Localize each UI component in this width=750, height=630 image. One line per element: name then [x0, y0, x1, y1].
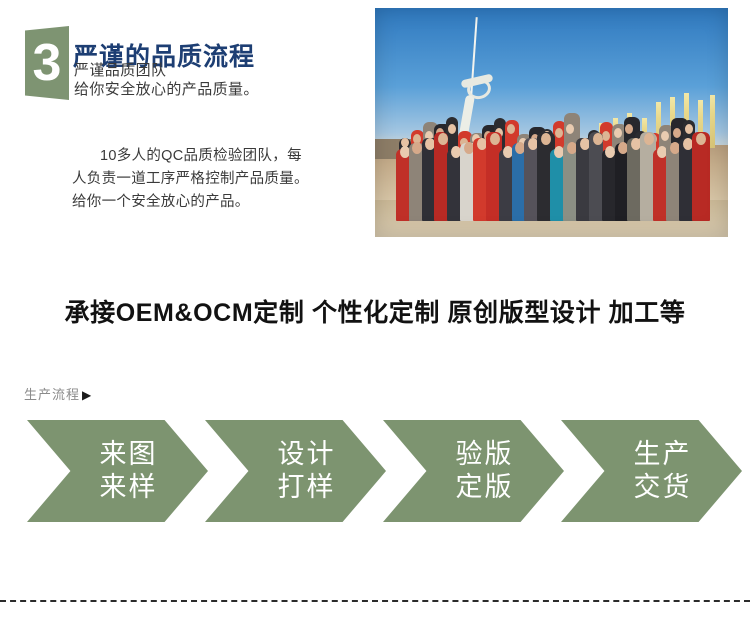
- quality-process-section: 3 严谨的品质流程 严谨品质团队 给你安全放心的产品质量。 10多人的QC品质检…: [0, 0, 750, 260]
- section-subtitle-line-2: 给你安全放心的产品质量。: [74, 80, 259, 99]
- flow-step-2-line-2: 打样: [256, 471, 336, 504]
- section-body-paragraph: 10多人的QC品质检验团队，每人负责一道工序严格控制产品质量。给你一个安全放心的…: [72, 145, 312, 214]
- flow-step-1-line-2: 来样: [78, 471, 158, 504]
- photo-vignette: [375, 8, 728, 237]
- section-number-badge: 3: [25, 26, 69, 100]
- team-group-photo: [375, 8, 728, 237]
- flow-step-2-line-1: 设计: [256, 438, 336, 471]
- flow-step-4-line-2: 交货: [612, 471, 692, 504]
- play-triangle-icon: ▶: [80, 388, 92, 402]
- production-flow-label-text: 生产流程: [24, 387, 80, 402]
- production-flow-steps: 来图 来样 设计 打样 验版 定版 生产 交货: [0, 420, 750, 524]
- section-subtitle: 严谨品质团队 给你安全放心的产品质量。: [74, 61, 259, 99]
- flow-step-1[interactable]: 来图 来样: [27, 420, 208, 522]
- flow-step-2[interactable]: 设计 打样: [205, 420, 386, 522]
- flow-step-4[interactable]: 生产 交货: [561, 420, 742, 522]
- product-detail-page: 3 严谨的品质流程 严谨品质团队 给你安全放心的产品质量。 10多人的QC品质检…: [0, 0, 750, 630]
- oem-service-banner: 承接OEM&OCM定制 个性化定制 原创版型设计 加工等: [0, 296, 750, 330]
- flow-step-4-line-1: 生产: [612, 438, 692, 471]
- production-flow-label: 生产流程▶: [24, 386, 92, 404]
- flow-step-3-line-1: 验版: [434, 438, 514, 471]
- flow-step-1-line-1: 来图: [78, 438, 158, 471]
- flow-step-3-line-2: 定版: [434, 471, 514, 504]
- flow-step-3[interactable]: 验版 定版: [383, 420, 564, 522]
- bottom-dashed-divider: [0, 600, 750, 602]
- section-subtitle-line-1: 严谨品质团队: [74, 61, 259, 80]
